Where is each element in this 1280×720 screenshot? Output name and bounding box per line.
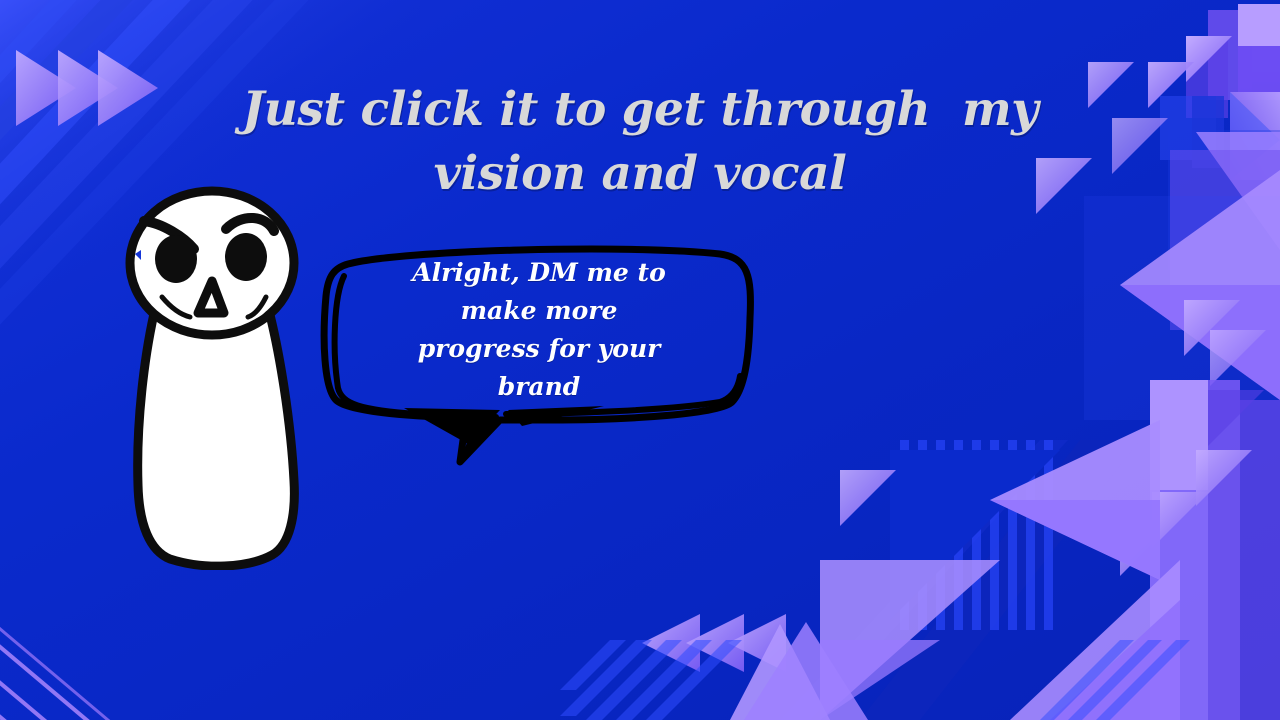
bubble-line-1: Alright, DM me to bbox=[412, 258, 666, 287]
page-title: Just click it to get through myvision an… bbox=[200, 78, 1080, 206]
character-illustration bbox=[108, 185, 318, 570]
speech-bubble: Alright, DM me to make more progress for… bbox=[300, 230, 780, 490]
character-left-eye bbox=[155, 235, 197, 283]
bubble-line-3: progress for your bbox=[418, 334, 661, 363]
character-right-eye bbox=[225, 233, 267, 281]
slide-canvas: Just click it to get through myvision an… bbox=[0, 0, 1280, 720]
speech-bubble-text: Alright, DM me to make more progress for… bbox=[374, 254, 704, 406]
page-title-line-1: Just click it to get through my bbox=[242, 82, 1038, 137]
bubble-line-2: make more bbox=[461, 296, 618, 325]
page-title-line-2: vision and vocal bbox=[434, 146, 847, 201]
bubble-line-4: brand bbox=[498, 372, 581, 401]
character-body bbox=[138, 305, 295, 566]
